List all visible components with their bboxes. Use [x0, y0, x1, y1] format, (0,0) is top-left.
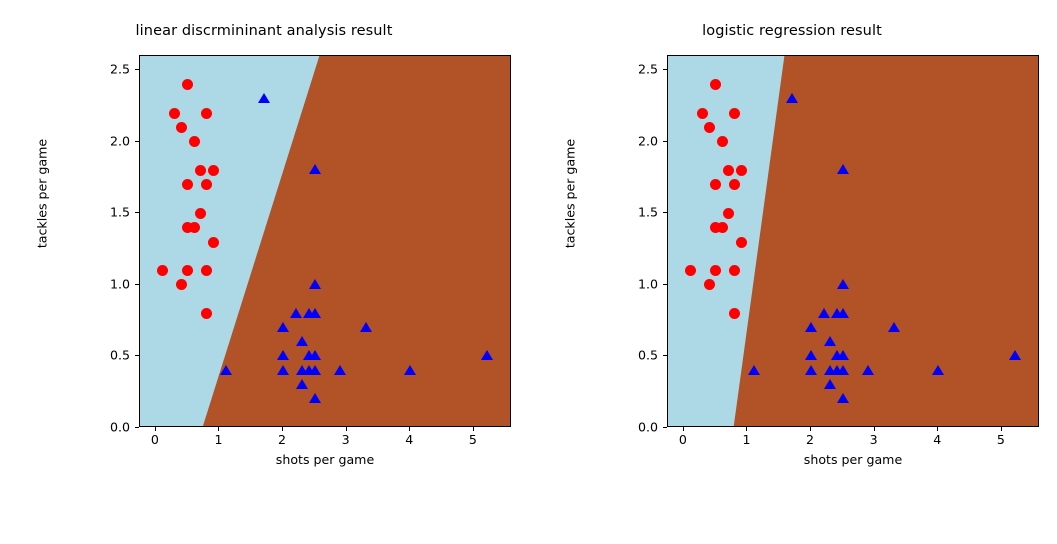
- data-point-defenders: [685, 265, 696, 276]
- plot-area: [139, 55, 511, 427]
- y-tick: [135, 427, 139, 428]
- x-axis-label: shots per game: [139, 452, 511, 467]
- data-point-forwards: [837, 164, 849, 174]
- data-point-defenders: [189, 136, 200, 147]
- x-tick-label: 2: [790, 432, 830, 447]
- data-point-defenders: [704, 122, 715, 133]
- x-tick: [874, 427, 875, 431]
- data-point-forwards: [309, 393, 321, 403]
- data-point-forwards: [309, 365, 321, 375]
- data-point-forwards: [786, 93, 798, 103]
- data-point-forwards: [888, 322, 900, 332]
- data-point-forwards: [837, 365, 849, 375]
- panel-title: linear discrmininant analysis result: [0, 23, 528, 39]
- figure-canvas: linear discrmininant analysis result 012…: [0, 0, 1057, 480]
- data-point-defenders: [189, 222, 200, 233]
- y-axis-label: tackles per game: [35, 0, 50, 544]
- x-tick: [409, 427, 410, 431]
- y-tick: [135, 355, 139, 356]
- x-tick: [473, 427, 474, 431]
- y-tick-label: 1.0: [80, 276, 130, 291]
- data-point-forwards: [220, 365, 232, 375]
- data-point-forwards: [296, 379, 308, 389]
- data-point-forwards: [290, 308, 302, 318]
- data-point-defenders: [208, 165, 219, 176]
- data-point-defenders: [157, 265, 168, 276]
- y-tick-label: 2.5: [80, 62, 130, 77]
- y-tick-label: 2.0: [80, 133, 130, 148]
- y-tick-label: 0.0: [608, 420, 658, 435]
- x-tick: [155, 427, 156, 431]
- data-point-forwards: [837, 393, 849, 403]
- x-tick-label: 4: [917, 432, 957, 447]
- data-point-forwards: [805, 365, 817, 375]
- data-point-forwards: [805, 322, 817, 332]
- data-point-forwards: [277, 350, 289, 360]
- x-tick: [810, 427, 811, 431]
- x-tick-label: 3: [854, 432, 894, 447]
- data-point-forwards: [360, 322, 372, 332]
- y-tick-label: 0.5: [608, 348, 658, 363]
- y-tick: [135, 212, 139, 213]
- y-tick-label: 0.5: [80, 348, 130, 363]
- y-tick-label: 1.5: [608, 205, 658, 220]
- y-tick: [663, 427, 667, 428]
- data-point-defenders: [736, 237, 747, 248]
- decision-region: [668, 56, 1038, 426]
- data-point-defenders: [201, 108, 212, 119]
- x-tick-label: 2: [262, 432, 302, 447]
- data-point-defenders: [729, 108, 740, 119]
- decision-region: [140, 56, 510, 426]
- data-point-defenders: [208, 237, 219, 248]
- data-point-defenders: [736, 165, 747, 176]
- data-point-forwards: [837, 350, 849, 360]
- plot-area: [667, 55, 1039, 427]
- data-point-forwards: [862, 365, 874, 375]
- data-point-forwards: [824, 379, 836, 389]
- y-tick: [663, 355, 667, 356]
- y-tick-label: 1.0: [608, 276, 658, 291]
- data-point-defenders: [723, 165, 734, 176]
- y-tick: [135, 284, 139, 285]
- x-tick: [218, 427, 219, 431]
- y-axis-label: tackles per game: [563, 0, 578, 544]
- x-tick-label: 3: [326, 432, 366, 447]
- x-tick-label: 4: [389, 432, 429, 447]
- data-point-forwards: [309, 279, 321, 289]
- data-point-forwards: [1009, 350, 1021, 360]
- data-point-forwards: [277, 322, 289, 332]
- data-point-forwards: [334, 365, 346, 375]
- data-point-forwards: [481, 350, 493, 360]
- data-point-forwards: [258, 93, 270, 103]
- y-tick: [663, 212, 667, 213]
- x-tick: [346, 427, 347, 431]
- data-point-forwards: [309, 308, 321, 318]
- data-point-defenders: [723, 208, 734, 219]
- y-tick: [663, 141, 667, 142]
- data-point-defenders: [195, 165, 206, 176]
- data-point-forwards: [837, 279, 849, 289]
- y-tick: [135, 141, 139, 142]
- x-tick-label: 1: [198, 432, 238, 447]
- y-tick-label: 2.5: [608, 62, 658, 77]
- data-point-defenders: [176, 122, 187, 133]
- data-point-forwards: [309, 350, 321, 360]
- panel-title: logistic regression result: [528, 23, 1056, 39]
- y-tick-label: 1.5: [80, 205, 130, 220]
- decision-boundary-shape: [140, 56, 511, 427]
- data-point-forwards: [404, 365, 416, 375]
- x-tick: [746, 427, 747, 431]
- y-tick: [663, 284, 667, 285]
- x-tick-label: 0: [135, 432, 175, 447]
- y-tick-label: 0.0: [80, 420, 130, 435]
- x-tick-label: 1: [726, 432, 766, 447]
- x-axis-label: shots per game: [667, 452, 1039, 467]
- data-point-defenders: [195, 208, 206, 219]
- decision-boundary-shape: [668, 56, 1039, 427]
- x-tick: [1001, 427, 1002, 431]
- x-tick: [282, 427, 283, 431]
- data-point-forwards: [837, 308, 849, 318]
- y-tick: [135, 69, 139, 70]
- panel-logreg: logistic regression result 012345 0.00.5…: [528, 0, 1056, 480]
- data-point-forwards: [277, 365, 289, 375]
- data-point-forwards: [296, 336, 308, 346]
- panel-lda: linear discrmininant analysis result 012…: [0, 0, 528, 480]
- data-point-defenders: [717, 136, 728, 147]
- y-tick: [663, 69, 667, 70]
- data-point-forwards: [818, 308, 830, 318]
- x-tick-label: 0: [663, 432, 703, 447]
- x-tick: [683, 427, 684, 431]
- data-point-forwards: [309, 164, 321, 174]
- y-tick-label: 2.0: [608, 133, 658, 148]
- data-point-defenders: [717, 222, 728, 233]
- data-point-forwards: [805, 350, 817, 360]
- data-point-forwards: [824, 336, 836, 346]
- data-point-forwards: [748, 365, 760, 375]
- data-point-forwards: [932, 365, 944, 375]
- x-tick: [937, 427, 938, 431]
- x-tick-label: 5: [981, 432, 1021, 447]
- x-tick-label: 5: [453, 432, 493, 447]
